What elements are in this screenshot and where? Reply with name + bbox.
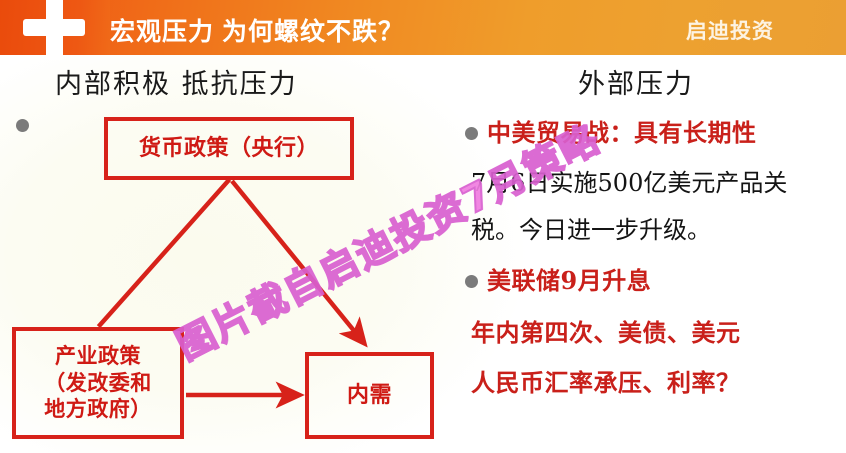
item-trade-war-body-line-2: 税。今日进一步升级。 <box>471 210 711 245</box>
heading-internal: 内部积极 抵抗压力 <box>55 62 298 101</box>
item-trade-war-body-line-1: 7月6日实施500亿美元产品关 <box>471 163 787 198</box>
policy-diagram: 货币政策（央行） 产业政策 （发改委和 地方政府） 内需 <box>0 55 470 453</box>
bullet-dot-left <box>16 119 29 132</box>
connector-monetary-to-demand <box>232 181 364 343</box>
external-pressure-column: 中美贸易战：具有长期性 7月6日实施500亿美元产品关 税。今日进一步升级。 美… <box>455 55 846 453</box>
connector-monetary-to-industry <box>100 181 228 325</box>
header-title: 宏观压力 为何螺纹不跌？ <box>110 12 404 48</box>
header-brand-label: 启迪投资 <box>686 15 774 45</box>
cross-logo-vertical-bar <box>46 0 63 60</box>
item-trade-war-heading: 中美贸易战：具有长期性 <box>487 113 757 148</box>
diagram-box-domestic-demand[interactable]: 内需 <box>305 352 434 439</box>
cross-logo-icon <box>23 0 85 60</box>
slide-root: 宏观压力 为何螺纹不跌？ 启迪投资 内部积极 抵抗压力 外部压力 货币政策（央行… <box>0 0 846 453</box>
item-fed-rate-body-line-2: 人民币汇率承压、利率？ <box>471 363 741 398</box>
industrial-policy-line-1: 产业政策 <box>44 343 152 370</box>
diagram-box-industrial-policy[interactable]: 产业政策 （发改委和 地方政府） <box>12 327 184 439</box>
diagram-box-monetary-policy[interactable]: 货币政策（央行） <box>104 117 354 180</box>
diagram-box-industrial-policy-label: 产业政策 （发改委和 地方政府） <box>40 343 156 424</box>
item-fed-rate-body-line-1: 年内第四次、美债、美元 <box>471 313 741 348</box>
bullet-dot-trade-war <box>465 127 478 140</box>
industrial-policy-line-2: （发改委和 <box>44 370 152 397</box>
header-bar: 宏观压力 为何螺纹不跌？ 启迪投资 <box>0 0 846 55</box>
diagram-box-monetary-policy-label: 货币政策（央行） <box>135 134 323 162</box>
item-fed-rate-heading: 美联储9月升息 <box>487 261 651 296</box>
diagram-box-domestic-demand-label: 内需 <box>343 381 396 409</box>
industrial-policy-line-3: 地方政府） <box>44 396 152 423</box>
bullet-dot-fed-rate <box>465 275 478 288</box>
